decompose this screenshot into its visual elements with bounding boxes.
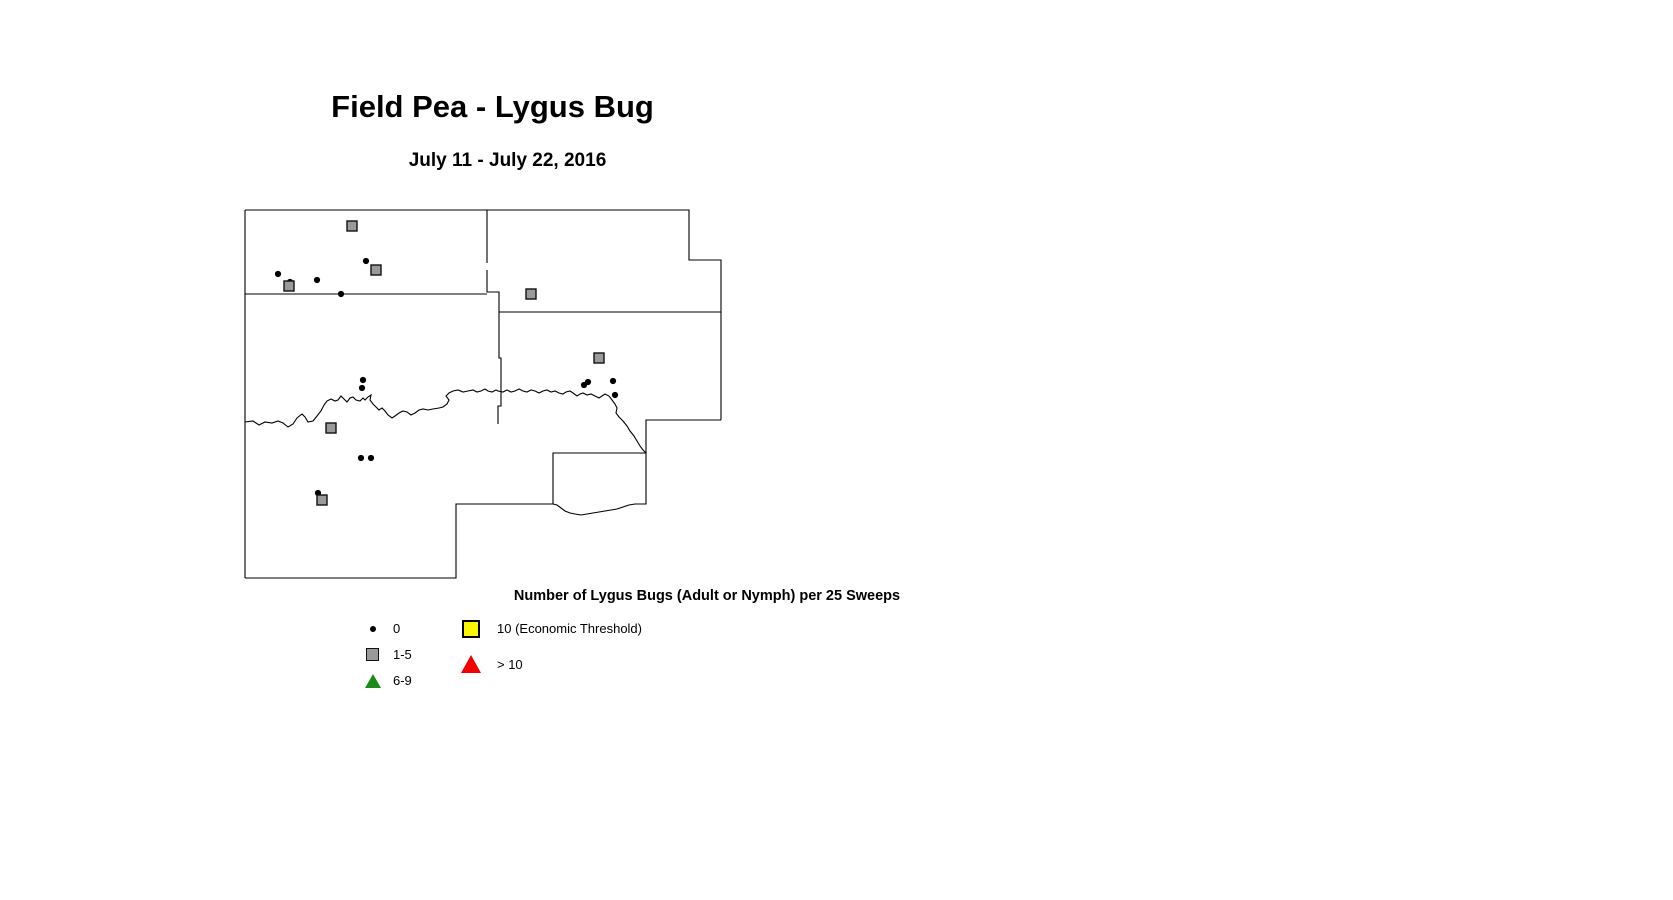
- map-boundaries: [245, 210, 721, 578]
- black-dot-icon: [363, 618, 385, 640]
- map-marker-black-dot: [359, 385, 365, 391]
- page-subtitle: July 11 - July 22, 2016: [0, 148, 1015, 174]
- gray-square-icon: [363, 644, 385, 666]
- map-page: Field Pea - Lygus Bug July 11 - July 22,…: [0, 0, 1673, 900]
- map-legend: Number of Lygus Bugs (Adult or Nymph) pe…: [243, 588, 803, 703]
- legend-label-six-to-nine: 6-9: [393, 673, 412, 688]
- southeast-step-boundary: [553, 420, 721, 504]
- map-marker-black-dot: [360, 377, 366, 383]
- map-marker-gray-square: [594, 353, 604, 363]
- map-marker-gray-square: [317, 495, 327, 505]
- page-title: Field Pea - Lygus Bug: [0, 88, 985, 126]
- map-marker-gray-square: [326, 423, 336, 433]
- central-vertical-boundary: [498, 312, 501, 424]
- map-marker-gray-square: [284, 281, 294, 291]
- map-marker-gray-square: [526, 289, 536, 299]
- map-marker-layer: [275, 221, 618, 505]
- river-boundary: [245, 389, 646, 453]
- red-triangle-icon: [461, 654, 483, 676]
- map-marker-black-dot: [612, 392, 618, 398]
- north-county-divider: [487, 210, 499, 312]
- map-container: [243, 208, 728, 580]
- map-marker-gray-square: [371, 265, 381, 275]
- river-boundary-east: [553, 453, 646, 515]
- map-marker-black-dot: [610, 378, 616, 384]
- legend-label-threshold: 10 (Economic Threshold): [497, 621, 642, 636]
- map-marker-black-dot: [363, 258, 369, 264]
- legend-title: Number of Lygus Bugs (Adult or Nymph) pe…: [243, 588, 1171, 604]
- map-marker-black-dot: [314, 277, 320, 283]
- map-graphic: [243, 208, 728, 580]
- yellow-square-icon: [461, 618, 483, 640]
- green-triangle-icon: [363, 670, 385, 692]
- legend-label-one-to-five: 1-5: [393, 647, 412, 662]
- south-border: [245, 504, 553, 578]
- legend-label-above-ten: > 10: [497, 657, 523, 672]
- map-marker-black-dot: [338, 291, 344, 297]
- legend-label-zero: 0: [393, 621, 400, 636]
- map-marker-black-dot: [368, 455, 374, 461]
- map-marker-gray-square: [347, 221, 357, 231]
- map-marker-black-dot: [275, 271, 281, 277]
- map-marker-black-dot: [581, 382, 587, 388]
- north-outer-boundary: [245, 210, 721, 312]
- map-marker-black-dot: [358, 455, 364, 461]
